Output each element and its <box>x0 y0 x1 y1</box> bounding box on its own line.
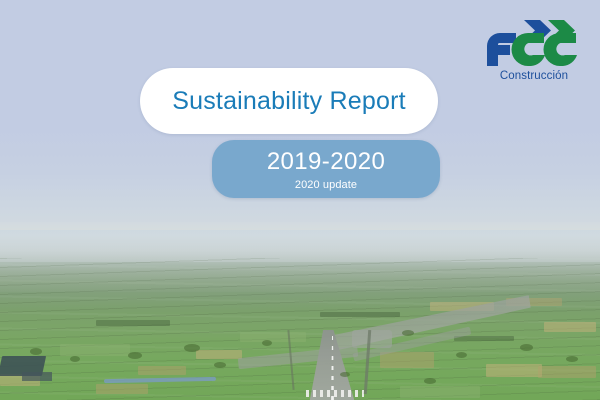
fcc-logo-wordmark: Construcción <box>486 70 582 82</box>
airport-building <box>22 372 52 381</box>
report-update-note: 2020 update <box>295 179 357 191</box>
fcc-logo-mark <box>486 14 582 70</box>
sustainability-report-cover: Construcción Sustainability Report 2019-… <box>0 0 600 400</box>
field-patch <box>60 344 130 356</box>
field-patch <box>138 366 186 375</box>
field-patch <box>240 332 306 342</box>
field-patch <box>96 320 170 326</box>
field-patch <box>486 364 542 377</box>
tree-clump <box>214 362 226 368</box>
field-patch <box>400 386 480 398</box>
tree-clump <box>262 340 272 346</box>
fcc-letter-c-2 <box>544 33 578 66</box>
date-panel: 2019-2020 2020 update <box>212 140 440 198</box>
field-patch <box>320 312 400 317</box>
tree-clump <box>184 344 200 352</box>
fcc-letter-c-1 <box>512 33 546 66</box>
tree-clump <box>424 378 436 384</box>
title-banner: Sustainability Report <box>140 68 438 134</box>
report-title: Sustainability Report <box>172 87 406 116</box>
tree-clump <box>30 348 42 355</box>
field-patch <box>538 366 596 378</box>
field-patch <box>454 336 514 341</box>
report-date-range: 2019-2020 <box>267 150 385 174</box>
field-hedgerow-bands <box>0 258 600 400</box>
tree-clump <box>456 352 467 358</box>
field-patch <box>196 350 242 359</box>
tree-clump <box>340 372 350 377</box>
tree-clump <box>70 356 80 362</box>
field-patch <box>96 384 148 394</box>
fcc-logo: Construcción <box>486 14 582 88</box>
tree-clump <box>520 344 533 351</box>
tree-clump <box>128 352 142 359</box>
tree-clump <box>566 356 578 362</box>
field-patch <box>380 352 434 368</box>
runway-threshold-markings <box>306 390 364 397</box>
field-patch <box>544 322 596 332</box>
tree-clump <box>402 330 414 336</box>
